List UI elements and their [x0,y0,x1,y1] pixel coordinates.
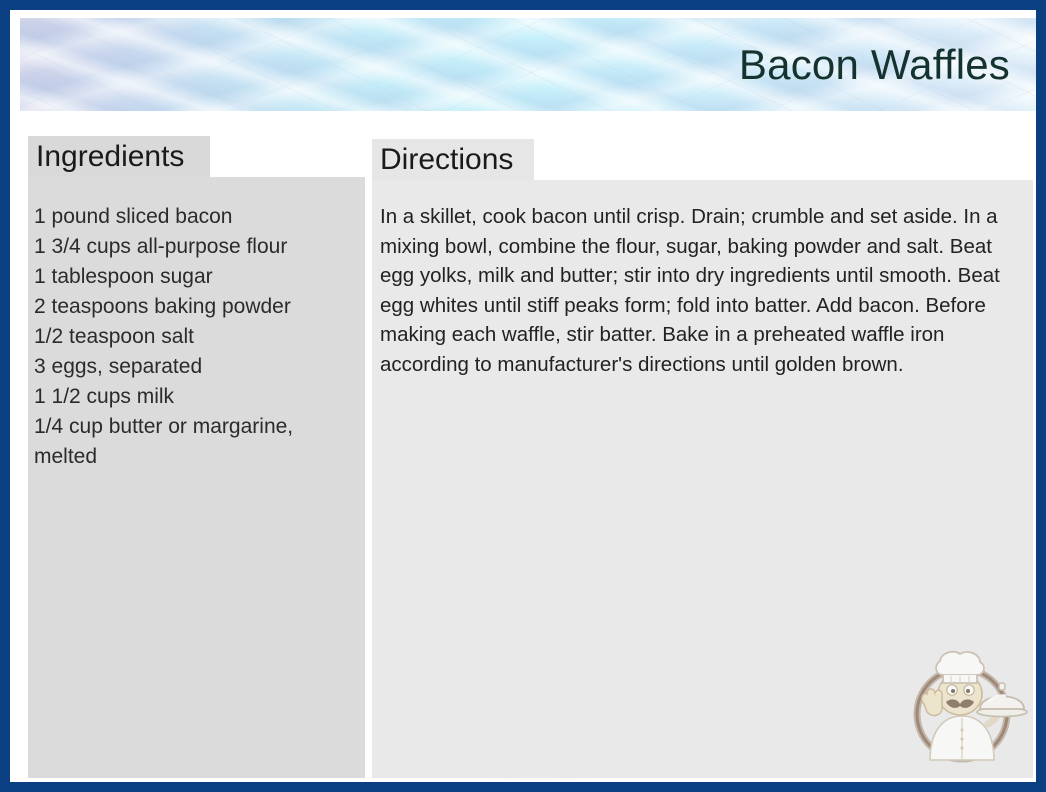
list-item: 1/2 teaspoon salt [34,322,354,352]
directions-heading-tab: Directions [372,139,534,181]
list-item: 1/4 cup butter or margarine, melted [34,412,324,472]
panel-divider [365,111,372,792]
page-title: Bacon Waffles [739,41,1010,89]
ingredients-heading-tab: Ingredients [28,136,210,178]
list-item: 1 3/4 cups all-purpose flour [34,232,354,262]
directions-heading: Directions [380,143,513,177]
list-item: 2 teaspoons baking powder [34,292,354,322]
ingredients-list: 1 pound sliced bacon 1 3/4 cups all-purp… [34,202,354,472]
list-item: 3 eggs, separated [34,352,354,382]
chef-mascot-logo [896,642,1028,768]
ingredients-heading: Ingredients [36,140,184,174]
header-banner: Bacon Waffles [20,18,1036,111]
list-item: 1 tablespoon sugar [34,262,354,292]
list-item: 1 pound sliced bacon [34,202,354,232]
recipe-card: Bacon Waffles [0,0,1046,792]
list-item: 1 1/2 cups milk [34,382,354,412]
directions-body: In a skillet, cook bacon until crisp. Dr… [380,202,1028,379]
